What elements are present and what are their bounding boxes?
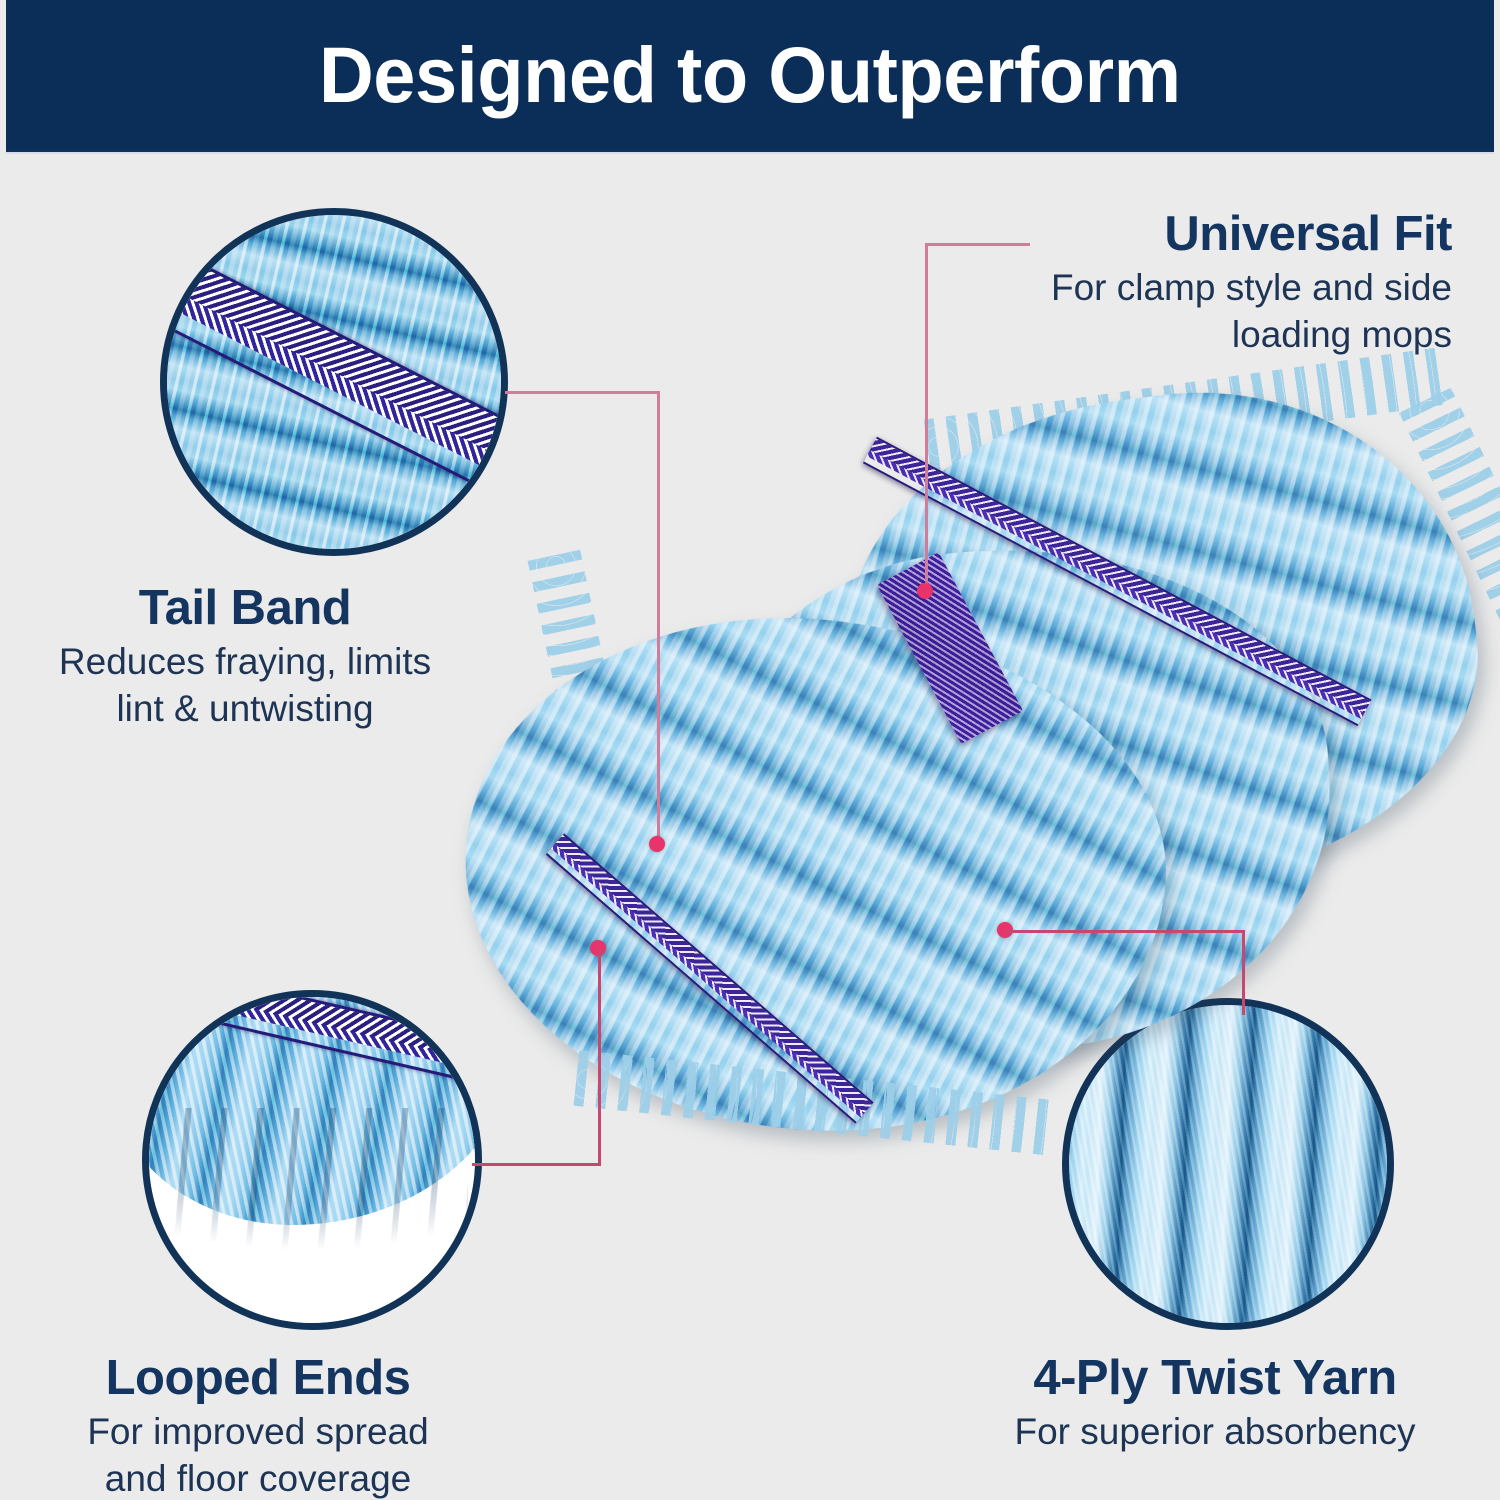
connector-line-tail-band	[657, 391, 660, 846]
header-banner: Designed to Outperform	[6, 0, 1494, 152]
feature-description-looped-ends: For improved spread and floor coverage	[18, 1409, 498, 1500]
looped-yarn-strands	[169, 1108, 469, 1291]
connector-dot-universal-fit	[917, 583, 933, 599]
feature-description-tail-band: Reduces fraying, limits lint & untwistin…	[20, 639, 470, 732]
feature-description-line-1: Reduces fraying, limits	[59, 641, 431, 682]
feature-title-tail-band: Tail Band	[20, 582, 470, 635]
connector-line-four-ply-yarn	[1005, 930, 1245, 933]
feature-description-line-2: lint & untwisting	[116, 688, 373, 729]
connector-line-four-ply-yarn	[1242, 930, 1245, 1015]
feature-callout-four-ply-yarn: 4-Ply Twist Yarn For superior absorbency	[950, 1352, 1480, 1456]
connector-line-looped-ends	[472, 1163, 601, 1166]
feature-callout-universal-fit: Universal Fit For clamp style and side l…	[912, 208, 1452, 358]
connector-dot-tail-band	[649, 836, 665, 852]
connector-line-tail-band	[505, 391, 660, 394]
product-photo	[455, 375, 1500, 1150]
feature-description-universal-fit: For clamp style and side loading mops	[912, 265, 1452, 358]
connector-line-looped-ends	[598, 948, 601, 1166]
feature-title-universal-fit: Universal Fit	[912, 208, 1452, 261]
feature-description-line-2: and floor coverage	[105, 1458, 411, 1499]
feature-description-four-ply-yarn: For superior absorbency	[950, 1409, 1480, 1456]
feature-callout-looped-ends: Looped Ends For improved spread and floo…	[18, 1352, 498, 1500]
feature-callout-tail-band: Tail Band Reduces fraying, limits lint &…	[20, 582, 470, 732]
feature-title-looped-ends: Looped Ends	[18, 1352, 498, 1405]
inset-tail-band-photo	[167, 215, 501, 549]
inset-image-looped-ends	[142, 990, 482, 1330]
feature-description-line-1: For improved spread	[87, 1411, 428, 1452]
page-title: Designed to Outperform	[319, 35, 1181, 114]
feature-description-line-2: loading mops	[1232, 314, 1452, 355]
infographic-page: Designed to Outperform	[0, 0, 1500, 1500]
feature-title-four-ply-yarn: 4-Ply Twist Yarn	[950, 1352, 1480, 1405]
feature-description-line-1: For superior absorbency	[1014, 1411, 1415, 1452]
inset-looped-ends-photo	[149, 997, 475, 1323]
feature-description-line-1: For clamp style and side	[1051, 267, 1452, 308]
